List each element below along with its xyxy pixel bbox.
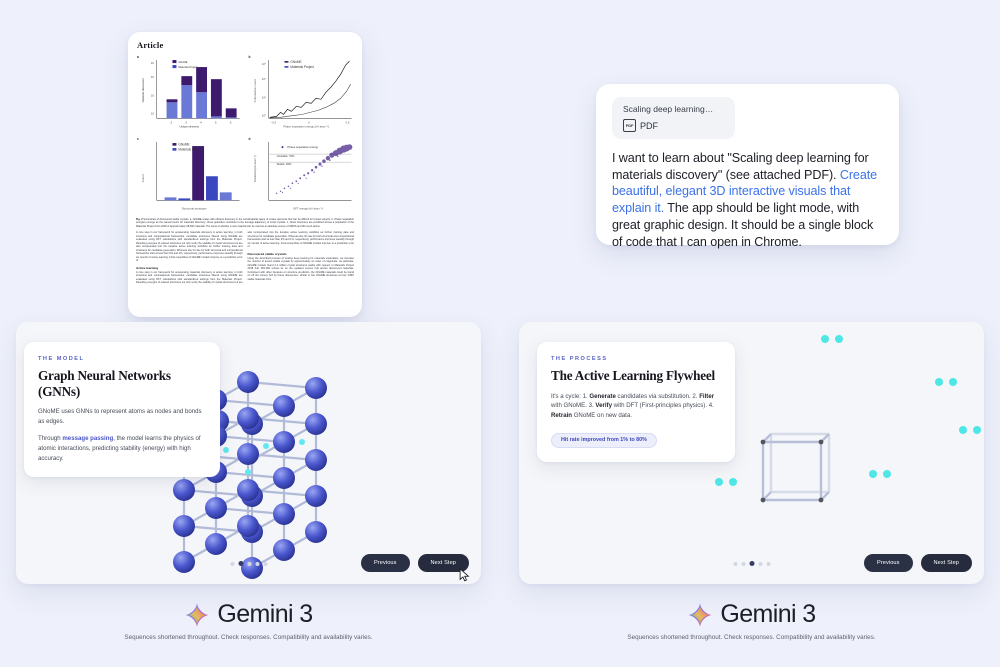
cycle-mid-2: with GNoME. 3. <box>551 402 595 409</box>
brand-name: Gemini 3 <box>217 600 312 629</box>
mouse-cursor <box>459 568 470 582</box>
svg-text:10⁶: 10⁶ <box>261 62 265 66</box>
pagination-dot[interactable] <box>758 562 762 566</box>
svg-text:4: 4 <box>200 120 202 124</box>
svg-text:Materials Project: Materials Project <box>178 65 197 69</box>
figure-caption-text: Summaries of discovered stable crystals.… <box>136 218 354 228</box>
article-section-heading-1: Active learning <box>136 266 243 270</box>
cycle-step-retrain: Retrain <box>551 412 572 419</box>
cycle-pre: It's a cycle: 1. <box>551 393 589 400</box>
article-title: Article <box>137 40 362 50</box>
svg-text:Unstable: 70%: Unstable: 70% <box>276 154 294 158</box>
svg-text:GNoME: GNoME <box>290 60 301 64</box>
pagination-dot[interactable] <box>766 562 770 566</box>
pagination-dots-right[interactable] <box>733 562 770 567</box>
card-paragraph-1: GNoME uses GNNs to represent atoms as no… <box>38 407 206 427</box>
figure-c-tag: c <box>137 137 139 141</box>
attachment-filename: Scaling deep learning… <box>623 104 713 114</box>
svg-text:Count: Count <box>141 174 145 182</box>
svg-text:Unique elements: Unique elements <box>180 124 200 128</box>
card-paragraph-cycle: It's a cycle: 1. Generate candidates via… <box>551 392 721 422</box>
svg-text:10: 10 <box>151 61 155 65</box>
svg-text:10: 10 <box>151 111 155 115</box>
pagination-dot[interactable] <box>733 562 737 566</box>
app-panel-right[interactable]: THE PROCESS The Active Learning Flywheel… <box>519 322 984 584</box>
svg-text:10: 10 <box>151 75 155 79</box>
gemini-sparkle-icon <box>184 602 210 628</box>
attachment-chip[interactable]: Scaling deep learning… PDF PDF <box>612 97 735 139</box>
svg-text:DFT energy (eV atom⁻¹): DFT energy (eV atom⁻¹) <box>293 206 323 210</box>
svg-text:3: 3 <box>185 120 187 124</box>
svg-text:10: 10 <box>151 93 155 97</box>
cycle-mid-3: with DFT (First-principles physics). 4. <box>612 402 714 409</box>
prompt-text-part1: I want to learn about "Scaling deep lear… <box>612 151 869 182</box>
prompt-text[interactable]: I want to learn about "Scaling deep lear… <box>612 150 885 250</box>
svg-text:Materials discovered: Materials discovered <box>141 78 145 102</box>
figure-a-tag: a <box>137 55 139 59</box>
pagination-dot[interactable] <box>255 562 259 566</box>
svg-text:Stable: 30%: Stable: 30% <box>276 162 291 166</box>
svg-text:GNoME: GNoME <box>178 142 189 146</box>
pagination-dots-left[interactable] <box>230 562 267 567</box>
disclaimer-left: Sequences shortened throughout. Check re… <box>16 634 481 641</box>
cycle-mid-4: GNoME on new data. <box>572 412 632 419</box>
next-step-button[interactable]: Next Step <box>921 554 972 572</box>
svg-text:5: 5 <box>215 120 217 124</box>
svg-text:Phase separation energy (eV at: Phase separation energy (eV atom⁻¹) <box>283 124 329 128</box>
card-p2-pre: Through <box>38 435 62 442</box>
article-section-heading-2: Discovered stable crystals <box>248 252 355 256</box>
svg-text:GNoME: GNoME <box>178 60 187 64</box>
pdf-icon: PDF <box>623 119 636 132</box>
prompt-panel[interactable]: Scaling deep learning… PDF PDF I want to… <box>596 84 899 245</box>
article-paragraph-intro: A core step in our framework for acceler… <box>136 231 243 263</box>
figure-c-bar-chart: c GNoME Materials Project Count <box>135 136 244 215</box>
svg-text:Phase separation energy: Phase separation energy <box>287 145 318 149</box>
brand-name: Gemini 3 <box>720 600 815 629</box>
screen: Article a <box>0 0 1000 667</box>
previous-button[interactable]: Previous <box>361 554 410 572</box>
svg-text:0.5: 0.5 <box>345 120 349 124</box>
info-card-the-process[interactable]: THE PROCESS The Active Learning Flywheel… <box>537 342 735 462</box>
svg-text:−0.5: −0.5 <box>270 120 276 124</box>
card-heading: Graph Neural Networks (GNNs) <box>38 368 206 399</box>
cycle-step-filter: Filter <box>699 393 714 400</box>
svg-text:Structural prototype: Structural prototype <box>182 206 207 210</box>
info-card-the-model[interactable]: THE MODEL Graph Neural Networks (GNNs) G… <box>24 342 220 477</box>
pagination-dot-active[interactable] <box>238 561 243 566</box>
pagination-dot-active[interactable] <box>749 561 754 566</box>
article-figure-grid: a GNoME Materials Pro <box>135 54 355 214</box>
figure-b-line-chart: b GNoME Materials Project Cumulative cou… <box>247 54 356 133</box>
svg-text:2: 2 <box>171 120 173 124</box>
svg-text:Predicted (eV atom⁻¹): Predicted (eV atom⁻¹) <box>252 154 256 181</box>
card-eyebrow: THE PROCESS <box>551 356 721 362</box>
pagination-dot[interactable] <box>263 562 267 566</box>
message-passing-link[interactable]: message passing <box>62 435 113 442</box>
disclaimer-right: Sequences shortened throughout. Check re… <box>519 634 984 641</box>
svg-text:Materials Project: Materials Project <box>290 65 313 69</box>
hit-rate-badge: Hit rate improved from 1% to 80% <box>551 433 657 448</box>
cycle-mid-1: candidates via substitution. 2. <box>616 393 699 400</box>
figure-d-scatter-chart: d <box>247 136 356 215</box>
svg-text:10²: 10² <box>261 95 265 99</box>
pagination-dot[interactable] <box>247 562 251 566</box>
figure-a-bar-chart: a GNoME Materials Pro <box>135 54 244 133</box>
svg-text:Materials Project: Materials Project <box>178 147 201 151</box>
attachment-type-row: PDF PDF <box>623 119 713 132</box>
figure-d-tag: d <box>249 137 251 141</box>
cycle-step-generate: Generate <box>589 393 615 400</box>
nav-row-left: Previous Next Step <box>361 554 469 572</box>
figure-b-tag: b <box>249 55 251 59</box>
gemini-sparkle-icon <box>687 602 713 628</box>
previous-button[interactable]: Previous <box>864 554 913 572</box>
article-columns: A core step in our framework for acceler… <box>136 231 354 285</box>
attachment-type-label: PDF <box>640 121 658 131</box>
card-paragraph-2: Through message passing, the model learn… <box>38 434 206 464</box>
article-text-body: Fig. 2 Summaries of discovered stable cr… <box>136 218 354 285</box>
brand-right: Gemini 3 <box>519 600 984 629</box>
card-eyebrow: THE MODEL <box>38 356 206 362</box>
pagination-dot[interactable] <box>741 562 745 566</box>
svg-text:10⁴: 10⁴ <box>261 77 266 81</box>
figure-caption: Fig. 2 Summaries of discovered stable cr… <box>136 218 354 228</box>
pagination-dot[interactable] <box>230 562 234 566</box>
cycle-step-verify: Verify <box>595 402 612 409</box>
svg-text:6: 6 <box>230 120 232 124</box>
brand-left: Gemini 3 <box>16 600 481 629</box>
app-panel-left[interactable]: THE MODEL Graph Neural Networks (GNNs) G… <box>16 322 481 584</box>
svg-text:10⁰: 10⁰ <box>261 113 266 117</box>
card-heading: The Active Learning Flywheel <box>551 368 721 384</box>
nav-row-right: Previous Next Step <box>864 554 972 572</box>
article-paragraph-2: Using the described process of scaling d… <box>248 257 355 282</box>
article-document-panel[interactable]: Article a <box>128 32 362 317</box>
svg-text:Cumulative count: Cumulative count <box>252 79 256 102</box>
